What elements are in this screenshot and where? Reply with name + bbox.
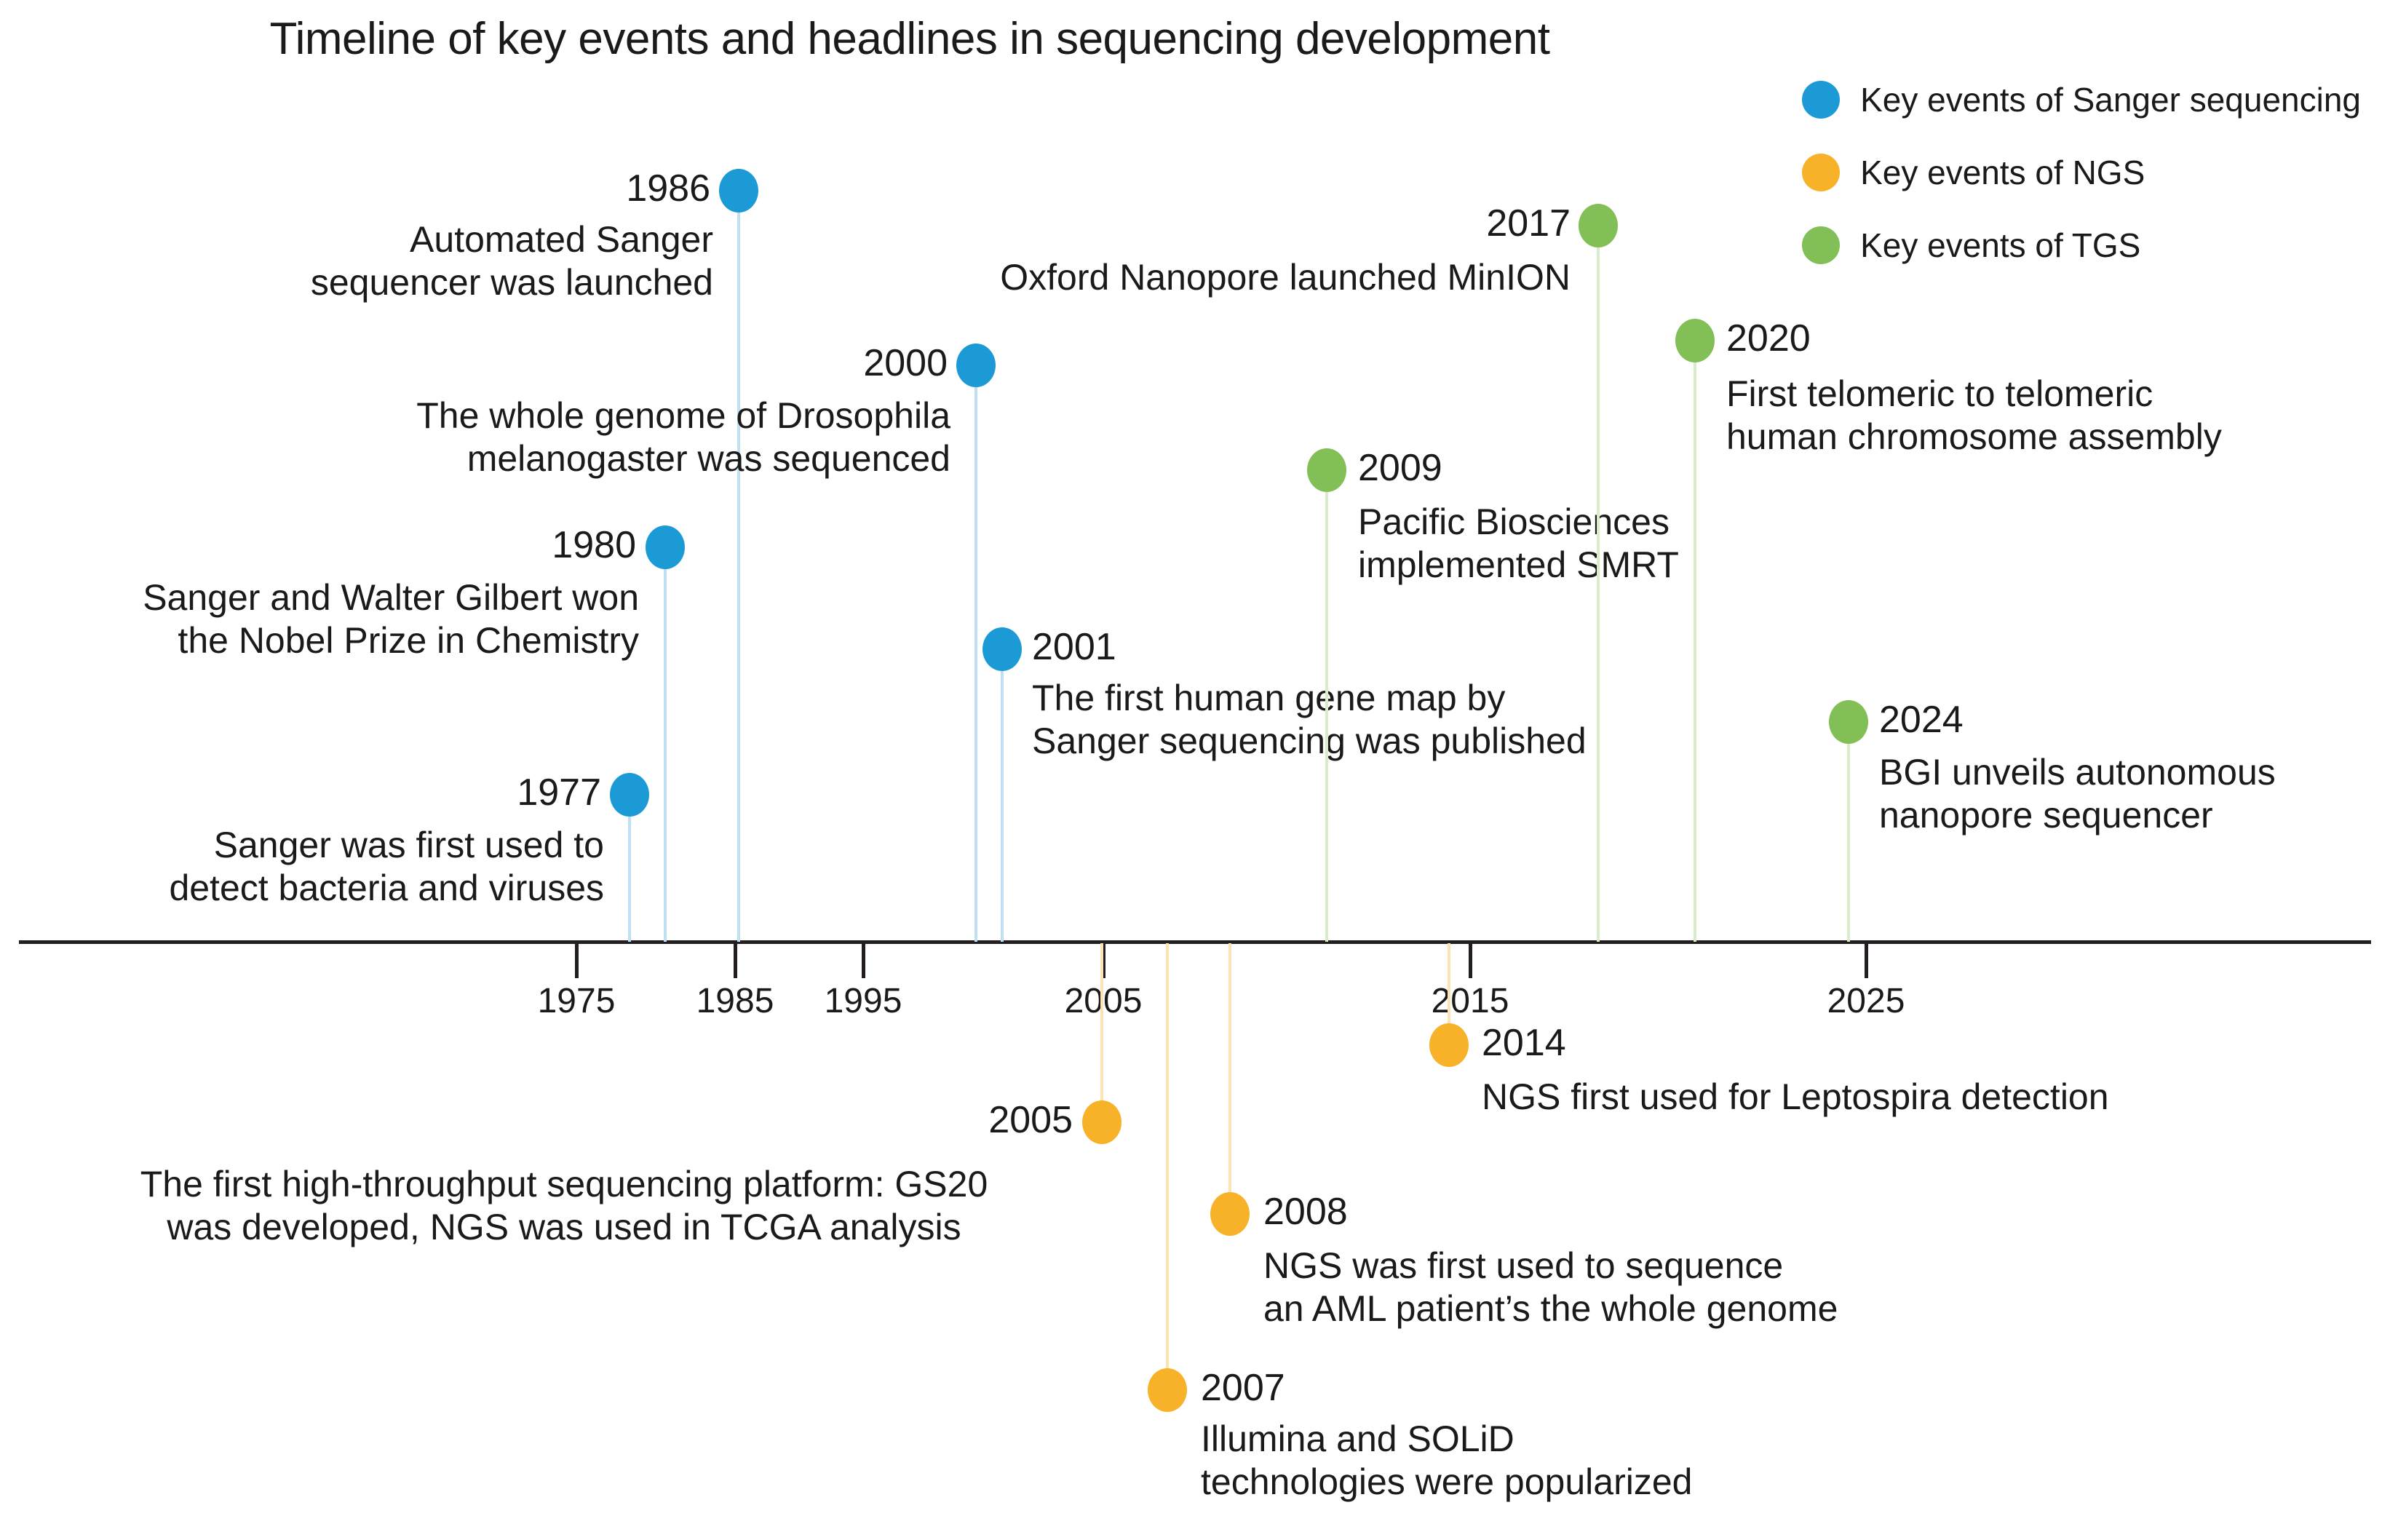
event-year-1980: 1980 [552,525,636,565]
axis-tick-label: 1975 [538,981,616,1021]
event-stem-2024 [1847,735,1850,942]
timeline-figure: Timeline of key events and headlines in … [0,0,2390,1540]
axis-tick-label: 1995 [825,981,902,1021]
circle-marker-icon [1802,154,1840,191]
event-year-2000: 2000 [863,344,948,384]
axis-tick-1995 [862,942,865,978]
event-marker-2014[interactable] [1429,1023,1469,1067]
event-marker-1977[interactable] [610,773,649,817]
page-title: Timeline of key events and headlines in … [0,13,1819,65]
event-desc-2008: NGS was first used to sequence an AML pa… [1263,1245,1838,1330]
event-stem-2007 [1166,943,1169,1386]
event-year-2005: 2005 [988,1100,1073,1140]
event-stem-2000 [974,384,977,942]
event-marker-2001[interactable] [982,627,1022,671]
event-marker-1980[interactable] [646,525,685,569]
event-desc-2007: Illumina and SOLiD technologies were pop… [1201,1418,1692,1504]
axis-tick-label: 2015 [1432,981,1509,1021]
axis-tick-2025 [1865,942,1868,978]
event-desc-1980: Sanger and Walter Gilbert won the Nobel … [143,576,639,662]
event-year-2008: 2008 [1263,1192,1348,1232]
event-stem-2009 [1325,488,1328,942]
axis-tick-1985 [734,942,737,978]
event-year-1977: 1977 [517,773,601,813]
event-marker-2007[interactable] [1148,1368,1187,1412]
event-desc-2014: NGS first used for Leptospira detection [1482,1076,2109,1119]
event-marker-1986[interactable] [719,169,758,213]
event-desc-2020: First telomeric to telomeric human chrom… [1726,373,2222,459]
event-marker-2005[interactable] [1082,1100,1121,1144]
event-year-2009: 2009 [1358,448,1442,488]
axis-tick-label: 2005 [1065,981,1143,1021]
event-stem-2020 [1694,357,1696,942]
event-desc-2017: Oxford Nanopore launched MinION [1000,256,1571,299]
event-marker-2009[interactable] [1307,448,1346,492]
event-stem-2001 [1001,662,1004,942]
event-year-2024: 2024 [1879,700,1964,740]
circle-marker-icon [1802,226,1840,264]
axis-tick-label: 1985 [696,981,774,1021]
event-stem-1977 [628,799,631,942]
event-desc-2024: BGI unveils autonomous nanopore sequence… [1879,751,2276,837]
legend-item-sanger: Key events of Sanger sequencing [1802,80,2361,119]
event-desc-2001: The first human gene map by Sanger seque… [1032,677,1587,763]
event-year-1986: 1986 [626,169,710,209]
event-desc-1977: Sanger was first used to detect bacteria… [169,824,604,910]
event-marker-2000[interactable] [956,344,996,387]
legend-item-label: Key events of NGS [1860,153,2145,192]
event-marker-2024[interactable] [1829,700,1868,744]
event-stem-1980 [664,555,667,942]
event-marker-2017[interactable] [1579,204,1618,247]
axis-tick-label: 2025 [1827,981,1905,1021]
event-stem-2008 [1228,943,1231,1212]
event-year-2014: 2014 [1482,1023,1566,1063]
legend: Key events of Sanger sequencing Key even… [1802,80,2361,265]
legend-item-label: Key events of Sanger sequencing [1860,80,2361,119]
event-stem-2017 [1597,240,1600,942]
axis-tick-1975 [575,942,579,978]
event-year-2020: 2020 [1726,319,1811,359]
circle-marker-icon [1802,81,1840,119]
event-year-2007: 2007 [1201,1368,1285,1408]
legend-item-ngs: Key events of NGS [1802,153,2361,192]
timeline-axis [19,940,2371,944]
event-desc-2000: The whole genome of Drosophila melanogas… [416,394,950,480]
legend-item-tgs: Key events of TGS [1802,226,2361,265]
event-stem-1986 [737,210,740,942]
event-year-2001: 2001 [1032,627,1116,667]
event-marker-2020[interactable] [1675,319,1715,362]
event-desc-2009: Pacific Biosciences implemented SMRT [1358,501,1679,587]
event-stem-2005 [1100,943,1103,1118]
event-year-2017: 2017 [1486,204,1571,244]
event-marker-2008[interactable] [1210,1192,1250,1236]
axis-tick-2015 [1469,942,1472,978]
legend-item-label: Key events of TGS [1860,226,2140,265]
event-desc-2005: The first high-throughput sequencing pla… [140,1163,988,1249]
event-desc-1986: Automated Sanger sequencer was launched [311,218,713,304]
